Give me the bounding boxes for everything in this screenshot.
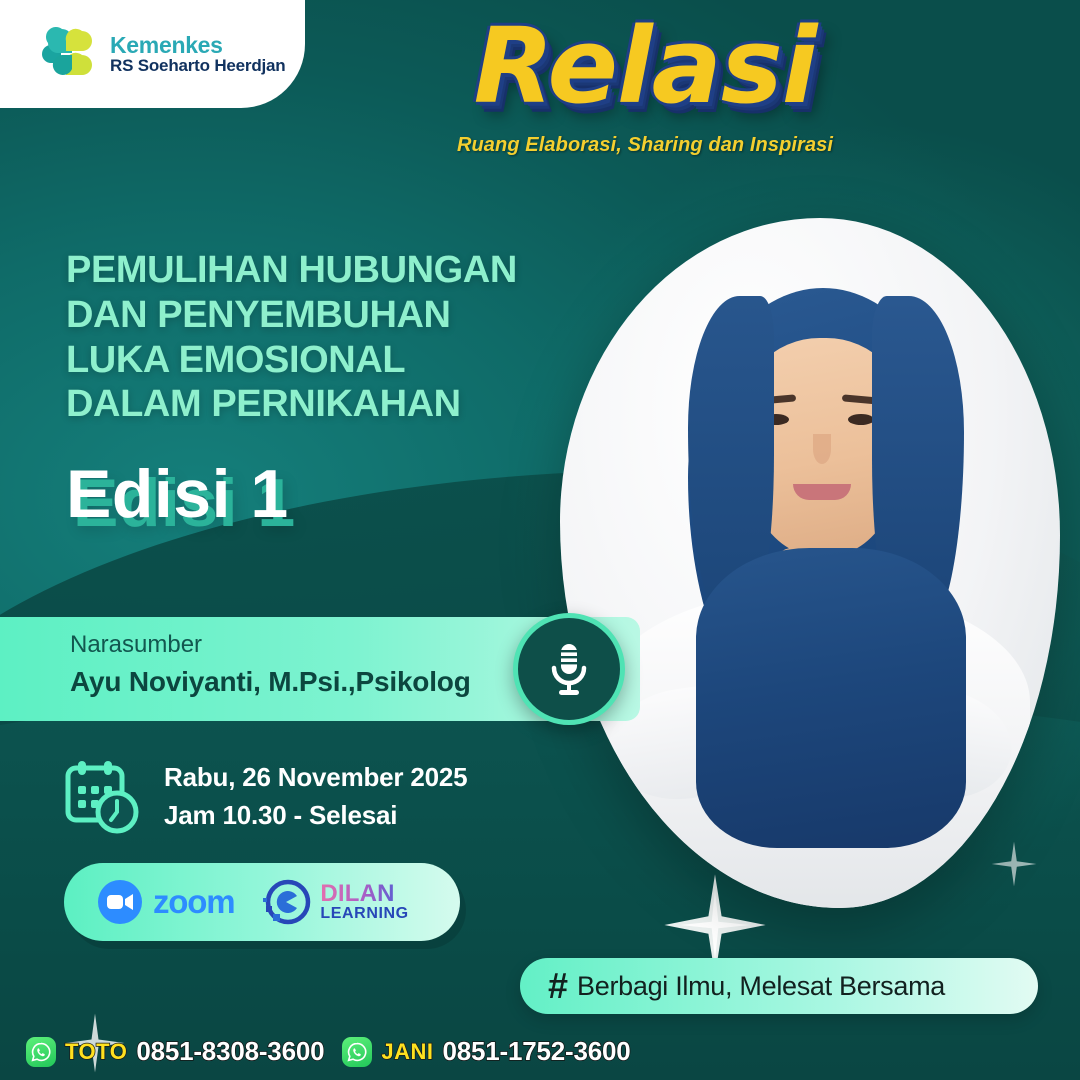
event-title-line-2: DAN PENYEMBUHAN xyxy=(66,293,586,338)
microphone-icon xyxy=(546,640,592,698)
dilan-label-top: DILAN xyxy=(320,882,408,906)
hospital-name: RS Soeharto Heerdjan xyxy=(110,57,286,75)
organization-logo: Kemenkes RS Soeharto Heerdjan xyxy=(0,0,305,108)
dilan-logo: DILAN LEARNING xyxy=(260,876,408,928)
speaker-portrait xyxy=(560,218,1060,908)
microphone-badge xyxy=(513,613,625,725)
brand-block: Relasi Ruang Elaborasi, Sharing dan Insp… xyxy=(420,14,870,157)
whatsapp-icon xyxy=(26,1037,56,1067)
hashtag-text: Berbagi Ilmu, Melesat Bersama xyxy=(577,971,945,1002)
contact-strip: TOTO 0851-8308-3600 JANI 0851-1752-3600 xyxy=(26,1036,631,1067)
event-title-line-3: LUKA EMOSIONAL xyxy=(66,338,586,383)
calendar-clock-icon xyxy=(64,758,142,836)
contact-item[interactable]: JANI 0851-1752-3600 xyxy=(342,1036,630,1067)
event-poster: Kemenkes RS Soeharto Heerdjan Relasi Rua… xyxy=(0,0,1080,1080)
event-title-line-4: DALAM PERNIKAHAN xyxy=(66,382,586,427)
contact-name: JANI xyxy=(381,1039,433,1065)
dilan-e-icon xyxy=(260,876,312,928)
zoom-video-camera-icon xyxy=(98,880,142,924)
contact-number: 0851-8308-3600 xyxy=(136,1036,324,1067)
zoom-label: zoom xyxy=(153,883,234,921)
zoom-logo: zoom xyxy=(98,880,234,924)
platform-pill: zoom DILAN LEARNING xyxy=(64,863,460,941)
contact-name: TOTO xyxy=(65,1039,127,1065)
schedule-block: Rabu, 26 November 2025 Jam 10.30 - Seles… xyxy=(64,758,467,836)
whatsapp-icon xyxy=(342,1037,372,1067)
kemenkes-flower-icon xyxy=(38,25,98,83)
contact-item[interactable]: TOTO 0851-8308-3600 xyxy=(26,1036,324,1067)
hash-symbol: # xyxy=(548,968,568,1004)
speaker-photo xyxy=(560,218,1060,908)
dilan-label-bottom: LEARNING xyxy=(320,906,408,922)
brand-wordmark: Relasi xyxy=(420,14,870,118)
kemenkes-title: Kemenkes xyxy=(110,33,286,57)
contact-number: 0851-1752-3600 xyxy=(442,1036,630,1067)
event-date: Rabu, 26 November 2025 xyxy=(164,759,467,797)
edition-label: Edisi 1 xyxy=(66,455,289,533)
hashtag-pill: # Berbagi Ilmu, Melesat Bersama xyxy=(520,958,1038,1014)
brand-tagline: Ruang Elaborasi, Sharing dan Inspirasi xyxy=(420,134,870,157)
event-title-line-1: PEMULIHAN HUBUNGAN xyxy=(66,248,586,293)
event-title: PEMULIHAN HUBUNGAN DAN PENYEMBUHAN LUKA … xyxy=(66,248,586,427)
event-time: Jam 10.30 - Selesai xyxy=(164,797,467,835)
